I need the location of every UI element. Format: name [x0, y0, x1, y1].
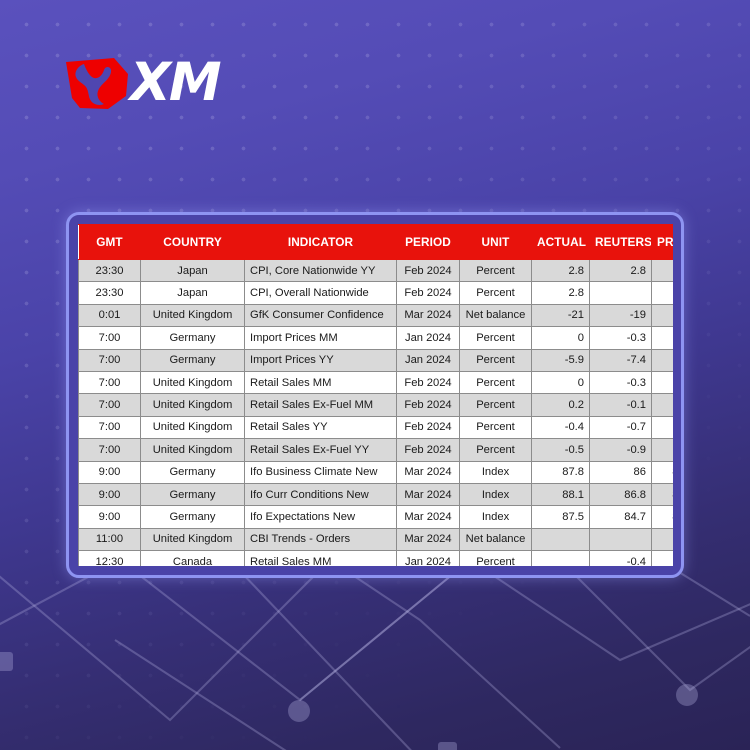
cell-indicator: CBI Trends - Orders — [245, 528, 397, 550]
cell-unit: Index — [460, 506, 532, 528]
cell-prior: 3.4 — [652, 371, 674, 393]
cell-actual: 87.8 — [532, 461, 590, 483]
table-row[interactable]: 23:30JapanCPI, Overall NationwideFeb 202… — [79, 282, 674, 304]
cell-actual: 88.1 — [532, 483, 590, 505]
cell-reuters-poll: 2.8 — [590, 260, 652, 282]
cell-prior: 2.2 — [652, 282, 674, 304]
cell-unit: Percent — [460, 551, 532, 566]
table-row[interactable]: 7:00GermanyImport Prices YYJan 2024Perce… — [79, 349, 674, 371]
cell-gmt: 23:30 — [79, 282, 141, 304]
cell-indicator: Ifo Curr Conditions New — [245, 483, 397, 505]
cell-country: United Kingdom — [141, 394, 245, 416]
cell-prior: -21 — [652, 304, 674, 326]
cell-country: Germany — [141, 349, 245, 371]
cell-prior: 2 — [652, 260, 674, 282]
cell-gmt: 7:00 — [79, 349, 141, 371]
cell-period: Mar 2024 — [397, 483, 460, 505]
cell-gmt: 9:00 — [79, 461, 141, 483]
cell-indicator: Ifo Expectations New — [245, 506, 397, 528]
cell-gmt: 11:00 — [79, 528, 141, 550]
economic-calendar-body: 23:30JapanCPI, Core Nationwide YYFeb 202… — [79, 260, 674, 567]
cell-unit: Percent — [460, 260, 532, 282]
cell-reuters-poll — [590, 528, 652, 550]
cell-country: Germany — [141, 506, 245, 528]
cell-prior: 3.2 — [652, 394, 674, 416]
economic-calendar-card: GMT COUNTRY INDICATOR PERIOD UNIT ACTUAL… — [66, 212, 684, 578]
cell-period: Jan 2024 — [397, 551, 460, 566]
cell-gmt: 12:30 — [79, 551, 141, 566]
cell-country: Japan — [141, 282, 245, 304]
cell-period: Mar 2024 — [397, 528, 460, 550]
cell-country: United Kingdom — [141, 439, 245, 461]
cell-unit: Index — [460, 483, 532, 505]
cell-actual — [532, 528, 590, 550]
table-row[interactable]: 7:00United KingdomRetail Sales MMFeb 202… — [79, 371, 674, 393]
table-header-row: GMT COUNTRY INDICATOR PERIOD UNIT ACTUAL… — [79, 225, 674, 260]
cell-reuters-poll: -19 — [590, 304, 652, 326]
cell-period: Feb 2024 — [397, 371, 460, 393]
cell-country: United Kingdom — [141, 371, 245, 393]
cell-reuters-poll: 86.8 — [590, 483, 652, 505]
cell-unit: Percent — [460, 394, 532, 416]
cell-period: Mar 2024 — [397, 506, 460, 528]
cell-country: Germany — [141, 461, 245, 483]
cell-reuters-poll: -0.1 — [590, 394, 652, 416]
cell-unit: Percent — [460, 282, 532, 304]
cell-prior: -20 — [652, 528, 674, 550]
cell-unit: Percent — [460, 327, 532, 349]
table-row[interactable]: 7:00GermanyImport Prices MMJan 2024Perce… — [79, 327, 674, 349]
page-root: XM GMT COUNTRY I — [0, 0, 750, 750]
cell-gmt: 7:00 — [79, 394, 141, 416]
cell-prior: 0.7 — [652, 416, 674, 438]
cell-period: Mar 2024 — [397, 304, 460, 326]
cell-period: Feb 2024 — [397, 416, 460, 438]
cell-gmt: 7:00 — [79, 371, 141, 393]
cell-reuters-poll: -7.4 — [590, 349, 652, 371]
column-header-country[interactable]: COUNTRY — [141, 225, 245, 260]
xm-wordmark: XM — [130, 52, 220, 114]
cell-country: Canada — [141, 551, 245, 566]
cell-gmt: 7:00 — [79, 416, 141, 438]
cell-prior: -8.5 — [652, 349, 674, 371]
table-row[interactable]: 7:00United KingdomRetail Sales Ex-Fuel Y… — [79, 439, 674, 461]
table-row[interactable]: 12:30CanadaRetail Sales MMJan 2024Percen… — [79, 551, 674, 566]
cell-actual: 0.2 — [532, 394, 590, 416]
table-row[interactable]: 9:00GermanyIfo Business Climate NewMar 2… — [79, 461, 674, 483]
table-row[interactable]: 11:00United KingdomCBI Trends - OrdersMa… — [79, 528, 674, 550]
cell-gmt: 9:00 — [79, 506, 141, 528]
cell-indicator: Retail Sales MM — [245, 371, 397, 393]
cell-gmt: 7:00 — [79, 327, 141, 349]
cell-period: Jan 2024 — [397, 327, 460, 349]
cell-unit: Net balance — [460, 528, 532, 550]
cell-actual — [532, 551, 590, 566]
table-row[interactable]: 23:30JapanCPI, Core Nationwide YYFeb 202… — [79, 260, 674, 282]
cell-period: Mar 2024 — [397, 461, 460, 483]
cell-period: Jan 2024 — [397, 349, 460, 371]
column-header-gmt[interactable]: GMT — [79, 225, 141, 260]
table-row[interactable]: 7:00United KingdomRetail Sales YYFeb 202… — [79, 416, 674, 438]
xm-bull-logo-icon — [64, 56, 130, 110]
cell-prior: 86.9 — [652, 483, 674, 505]
table-row[interactable]: 7:00United KingdomRetail Sales Ex-Fuel M… — [79, 394, 674, 416]
column-header-period[interactable]: PERIOD — [397, 225, 460, 260]
cell-period: Feb 2024 — [397, 439, 460, 461]
cell-gmt: 23:30 — [79, 260, 141, 282]
cell-actual: -0.5 — [532, 439, 590, 461]
column-header-indicator[interactable]: INDICATOR — [245, 225, 397, 260]
cell-gmt: 7:00 — [79, 439, 141, 461]
cell-reuters-poll: 86 — [590, 461, 652, 483]
table-row[interactable]: 9:00GermanyIfo Curr Conditions NewMar 20… — [79, 483, 674, 505]
cell-prior: -1.1 — [652, 327, 674, 349]
cell-indicator: Import Prices YY — [245, 349, 397, 371]
cell-actual: 0 — [532, 327, 590, 349]
cell-country: Germany — [141, 327, 245, 349]
cell-indicator: Retail Sales MM — [245, 551, 397, 566]
cell-gmt: 0:01 — [79, 304, 141, 326]
cell-country: United Kingdom — [141, 304, 245, 326]
cell-indicator: Retail Sales Ex-Fuel YY — [245, 439, 397, 461]
cell-country: Germany — [141, 483, 245, 505]
cell-indicator: Retail Sales YY — [245, 416, 397, 438]
cell-unit: Index — [460, 461, 532, 483]
cell-reuters-poll: -0.3 — [590, 371, 652, 393]
column-header-unit[interactable]: UNIT — [460, 225, 532, 260]
cell-indicator: CPI, Overall Nationwide — [245, 282, 397, 304]
cell-unit: Percent — [460, 439, 532, 461]
cell-actual: -21 — [532, 304, 590, 326]
column-header-reuters-poll[interactable]: REUTERS POLL — [590, 225, 652, 260]
economic-calendar-table: GMT COUNTRY INDICATOR PERIOD UNIT ACTUAL… — [78, 224, 673, 566]
cell-period: Feb 2024 — [397, 282, 460, 304]
cell-unit: Percent — [460, 416, 532, 438]
cell-unit: Net balance — [460, 304, 532, 326]
cell-reuters-poll: -0.9 — [590, 439, 652, 461]
cell-reuters-poll: -0.4 — [590, 551, 652, 566]
cell-country: Japan — [141, 260, 245, 282]
cell-actual: -5.9 — [532, 349, 590, 371]
cell-country: United Kingdom — [141, 416, 245, 438]
cell-gmt: 9:00 — [79, 483, 141, 505]
cell-unit: Percent — [460, 371, 532, 393]
cell-reuters-poll: -0.7 — [590, 416, 652, 438]
cell-actual: -0.4 — [532, 416, 590, 438]
cell-period: Feb 2024 — [397, 394, 460, 416]
cell-country: United Kingdom — [141, 528, 245, 550]
cell-indicator: GfK Consumer Confidence — [245, 304, 397, 326]
cell-indicator: CPI, Core Nationwide YY — [245, 260, 397, 282]
column-header-prior[interactable]: PRIOR — [652, 225, 674, 260]
cell-actual: 2.8 — [532, 282, 590, 304]
table-row[interactable]: 9:00GermanyIfo Expectations NewMar 2024I… — [79, 506, 674, 528]
xm-logo: XM — [64, 52, 236, 114]
cell-reuters-poll: -0.3 — [590, 327, 652, 349]
cell-indicator: Import Prices MM — [245, 327, 397, 349]
economic-calendar-scroll: GMT COUNTRY INDICATOR PERIOD UNIT ACTUAL… — [78, 224, 673, 566]
cell-period: Feb 2024 — [397, 260, 460, 282]
column-header-actual[interactable]: ACTUAL — [532, 225, 590, 260]
cell-indicator: Ifo Business Climate New — [245, 461, 397, 483]
cell-reuters-poll — [590, 282, 652, 304]
cell-reuters-poll: 84.7 — [590, 506, 652, 528]
cell-actual: 87.5 — [532, 506, 590, 528]
table-row[interactable]: 0:01United KingdomGfK Consumer Confidenc… — [79, 304, 674, 326]
cell-prior: 0.9 — [652, 551, 674, 566]
cell-actual: 2.8 — [532, 260, 590, 282]
cell-indicator: Retail Sales Ex-Fuel MM — [245, 394, 397, 416]
cell-actual: 0 — [532, 371, 590, 393]
cell-prior: 85.5 — [652, 461, 674, 483]
cell-unit: Percent — [460, 349, 532, 371]
cell-prior: 0.7 — [652, 439, 674, 461]
cell-prior: 84.1 — [652, 506, 674, 528]
